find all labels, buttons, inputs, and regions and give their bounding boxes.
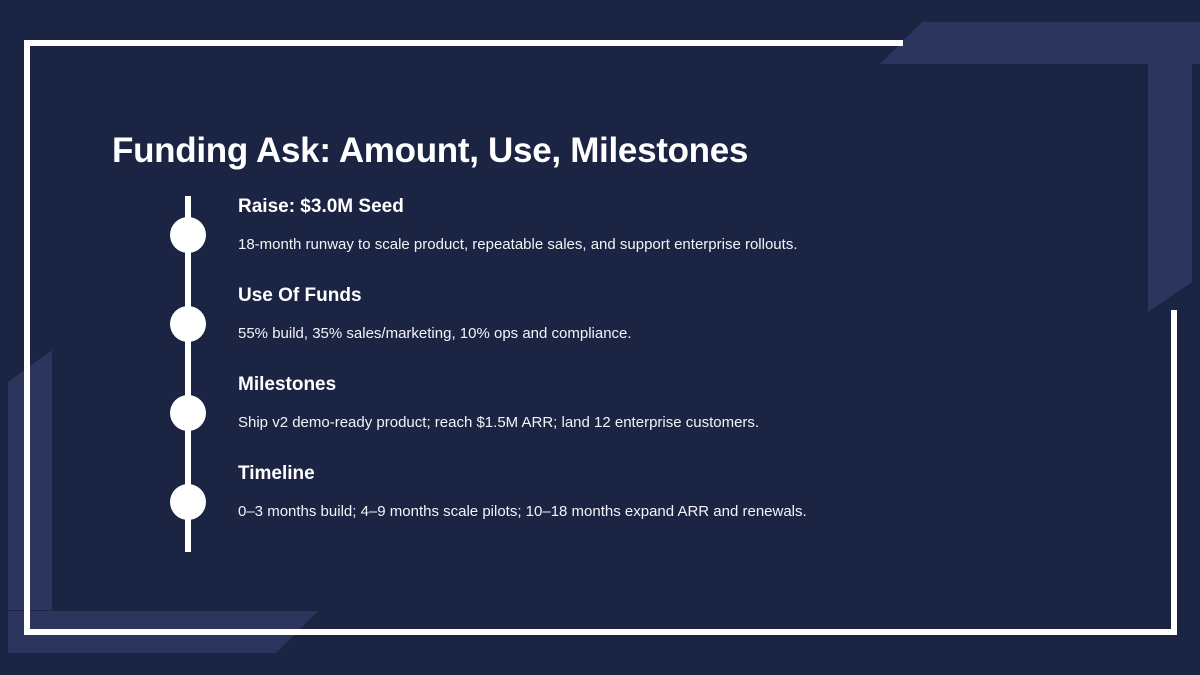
timeline-dot-icon: [170, 484, 206, 520]
timeline-item-body: Ship v2 demo-ready product; reach $1.5M …: [238, 413, 1098, 433]
slide-canvas: Funding Ask: Amount, Use, Milestones Rai…: [0, 0, 1200, 675]
timeline-dot-icon: [170, 306, 206, 342]
timeline-item: Timeline 0–3 months build; 4–9 months sc…: [170, 463, 1110, 552]
timeline: Raise: $3.0M Seed 18-month runway to sca…: [170, 196, 1110, 552]
timeline-item-heading: Raise: $3.0M Seed: [238, 196, 1098, 219]
timeline-item-content: Use Of Funds 55% build, 35% sales/market…: [238, 285, 1098, 343]
timeline-item-body: 0–3 months build; 4–9 months scale pilot…: [238, 502, 1098, 522]
page-title: Funding Ask: Amount, Use, Milestones: [112, 131, 748, 171]
timeline-item-content: Timeline 0–3 months build; 4–9 months sc…: [238, 463, 1098, 521]
timeline-item-heading: Use Of Funds: [238, 285, 1098, 308]
timeline-item: Use Of Funds 55% build, 35% sales/market…: [170, 285, 1110, 374]
timeline-dot-icon: [170, 395, 206, 431]
timeline-item-content: Raise: $3.0M Seed 18-month runway to sca…: [238, 196, 1098, 254]
timeline-item-heading: Timeline: [238, 463, 1098, 486]
timeline-item: Raise: $3.0M Seed 18-month runway to sca…: [170, 196, 1110, 285]
timeline-dot-icon: [170, 217, 206, 253]
timeline-item-content: Milestones Ship v2 demo-ready product; r…: [238, 374, 1098, 432]
timeline-item-body: 18-month runway to scale product, repeat…: [238, 235, 1098, 255]
timeline-item: Milestones Ship v2 demo-ready product; r…: [170, 374, 1110, 463]
timeline-item-heading: Milestones: [238, 374, 1098, 397]
timeline-item-body: 55% build, 35% sales/marketing, 10% ops …: [238, 324, 1098, 344]
